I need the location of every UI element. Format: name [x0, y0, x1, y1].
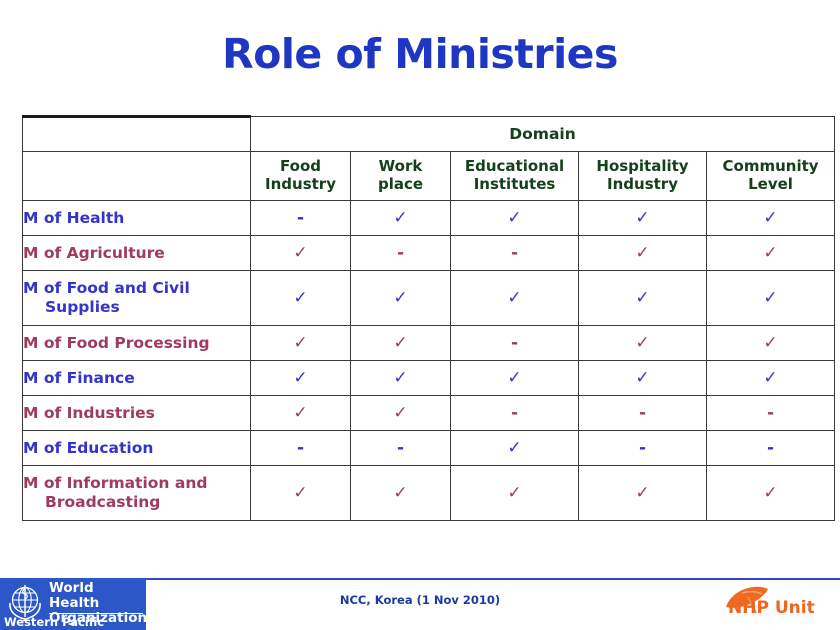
page-title: Role of Ministries: [0, 30, 840, 78]
table-row: M of Food and CivilSupplies✓✓✓✓✓: [23, 271, 835, 326]
cell-r7-c1: ✓: [351, 466, 451, 521]
row-label-3-line1: M of Food Processing: [23, 334, 210, 352]
cell-r0-c1: ✓: [351, 201, 451, 236]
mark-check-icon: ✓: [635, 288, 649, 308]
mark-check-icon: ✓: [393, 483, 407, 503]
mark-dash-icon: -: [511, 333, 518, 353]
cell-r6-c3: -: [579, 431, 707, 466]
row-label-5: M of Industries: [23, 396, 251, 431]
row-label-2-line1: M of Food and Civil: [23, 279, 190, 297]
row-label-2: M of Food and CivilSupplies: [23, 271, 251, 326]
cell-r7-c3: ✓: [579, 466, 707, 521]
column-header-2-line2: Institutes: [451, 176, 578, 194]
cell-r5-c2: -: [451, 396, 579, 431]
cell-r5-c1: ✓: [351, 396, 451, 431]
cell-r1-c2: -: [451, 236, 579, 271]
cell-r3-c4: ✓: [707, 326, 835, 361]
mark-check-icon: ✓: [635, 483, 649, 503]
row-label-3: M of Food Processing: [23, 326, 251, 361]
mark-check-icon: ✓: [763, 208, 777, 228]
mark-check-icon: ✓: [763, 288, 777, 308]
row-label-5-line1: M of Industries: [23, 404, 155, 422]
mark-dash-icon: -: [397, 243, 404, 263]
row-label-4-line1: M of Finance: [23, 369, 135, 387]
column-header-3-line1: Hospitality: [579, 158, 706, 176]
mark-dash-icon: -: [511, 243, 518, 263]
row-label-4: M of Finance: [23, 361, 251, 396]
cell-r3-c3: ✓: [579, 326, 707, 361]
mark-dash-icon: -: [639, 438, 646, 458]
mark-dash-icon: -: [297, 438, 304, 458]
column-header-3: HospitalityIndustry: [579, 152, 707, 201]
cell-r2-c0: ✓: [251, 271, 351, 326]
mark-dash-icon: -: [767, 403, 774, 423]
mark-check-icon: ✓: [763, 368, 777, 388]
row-label-7-line1: M of Information and: [23, 474, 207, 492]
cell-r3-c1: ✓: [351, 326, 451, 361]
row-label-0-line1: M of Health: [23, 209, 124, 227]
cell-r6-c4: -: [707, 431, 835, 466]
row-label-1: M of Agriculture: [23, 236, 251, 271]
mark-dash-icon: -: [767, 438, 774, 458]
mark-check-icon: ✓: [393, 208, 407, 228]
cell-r5-c3: -: [579, 396, 707, 431]
cell-r0-c0: -: [251, 201, 351, 236]
who-logo: World Health Organization Western Pacifi…: [0, 578, 146, 630]
mark-check-icon: ✓: [507, 438, 521, 458]
mark-check-icon: ✓: [293, 403, 307, 423]
domain-group-header: Domain: [251, 117, 835, 152]
mark-dash-icon: -: [511, 403, 518, 423]
column-header-1-line2: place: [351, 176, 450, 194]
who-name-line1: World Health: [49, 581, 146, 611]
column-header-4: CommunityLevel: [707, 152, 835, 201]
row-label-6: M of Education: [23, 431, 251, 466]
cell-r4-c4: ✓: [707, 361, 835, 396]
cell-r5-c0: ✓: [251, 396, 351, 431]
row-label-2-line2: Supplies: [23, 298, 250, 317]
cell-r3-c2: -: [451, 326, 579, 361]
cell-r2-c2: ✓: [451, 271, 579, 326]
mark-check-icon: ✓: [393, 288, 407, 308]
table-row: M of Industries✓✓---: [23, 396, 835, 431]
mark-check-icon: ✓: [507, 483, 521, 503]
cell-r3-c0: ✓: [251, 326, 351, 361]
mark-check-icon: ✓: [763, 483, 777, 503]
cell-r7-c0: ✓: [251, 466, 351, 521]
mark-check-icon: ✓: [393, 403, 407, 423]
cell-r6-c2: ✓: [451, 431, 579, 466]
column-header-4-line2: Level: [707, 176, 834, 194]
cell-r1-c4: ✓: [707, 236, 835, 271]
column-header-0-line1: Food: [251, 158, 350, 176]
row-label-1-line1: M of Agriculture: [23, 244, 165, 262]
table-row: M of Food Processing✓✓-✓✓: [23, 326, 835, 361]
mark-check-icon: ✓: [293, 288, 307, 308]
mark-check-icon: ✓: [635, 208, 649, 228]
column-header-0: FoodIndustry: [251, 152, 351, 201]
mark-check-icon: ✓: [507, 208, 521, 228]
table-header-row-columns: FoodIndustryWorkplaceEducationalInstitut…: [23, 152, 835, 201]
table-corner-blank-2: [23, 152, 251, 201]
cell-r1-c3: ✓: [579, 236, 707, 271]
who-region-label: Western Pacific Region: [4, 615, 146, 630]
mark-check-icon: ✓: [635, 368, 649, 388]
table-header-row-group: Domain: [23, 117, 835, 152]
cell-r7-c2: ✓: [451, 466, 579, 521]
footer-divider: [140, 578, 840, 580]
mark-dash-icon: -: [397, 438, 404, 458]
cell-r7-c4: ✓: [707, 466, 835, 521]
row-label-7-line2: Broadcasting: [23, 493, 250, 512]
cell-r2-c4: ✓: [707, 271, 835, 326]
cell-r4-c1: ✓: [351, 361, 451, 396]
column-header-2-line1: Educational: [451, 158, 578, 176]
cell-r4-c3: ✓: [579, 361, 707, 396]
column-header-3-line2: Industry: [579, 176, 706, 194]
cell-r1-c1: -: [351, 236, 451, 271]
cell-r4-c0: ✓: [251, 361, 351, 396]
cell-r0-c4: ✓: [707, 201, 835, 236]
table-row: M of Agriculture✓--✓✓: [23, 236, 835, 271]
row-label-7: M of Information andBroadcasting: [23, 466, 251, 521]
mark-check-icon: ✓: [507, 368, 521, 388]
table-row: M of Health-✓✓✓✓: [23, 201, 835, 236]
cell-r5-c4: -: [707, 396, 835, 431]
cell-r2-c3: ✓: [579, 271, 707, 326]
who-name-underline: [49, 613, 143, 614]
column-header-4-line1: Community: [707, 158, 834, 176]
table-row: M of Education--✓--: [23, 431, 835, 466]
mark-check-icon: ✓: [763, 243, 777, 263]
footer-center-text: NCC, Korea (1 Nov 2010): [270, 593, 570, 607]
mark-check-icon: ✓: [635, 333, 649, 353]
table-row: M of Information andBroadcasting✓✓✓✓✓: [23, 466, 835, 521]
cell-r6-c1: -: [351, 431, 451, 466]
table-row: M of Finance✓✓✓✓✓: [23, 361, 835, 396]
mark-check-icon: ✓: [635, 243, 649, 263]
mark-check-icon: ✓: [293, 483, 307, 503]
column-header-0-line2: Industry: [251, 176, 350, 194]
mark-dash-icon: -: [639, 403, 646, 423]
column-header-1-line1: Work: [351, 158, 450, 176]
table-corner-blank: [23, 117, 251, 152]
column-header-1: Workplace: [351, 152, 451, 201]
cell-r0-c3: ✓: [579, 201, 707, 236]
cell-r6-c0: -: [251, 431, 351, 466]
mark-check-icon: ✓: [293, 368, 307, 388]
role-of-ministries-table: DomainFoodIndustryWorkplaceEducationalIn…: [22, 115, 835, 521]
mark-check-icon: ✓: [393, 333, 407, 353]
mark-check-icon: ✓: [507, 288, 521, 308]
column-header-2: EducationalInstitutes: [451, 152, 579, 201]
mark-check-icon: ✓: [293, 243, 307, 263]
mark-check-icon: ✓: [293, 333, 307, 353]
mark-check-icon: ✓: [393, 368, 407, 388]
mark-dash-icon: -: [297, 208, 304, 228]
cell-r0-c2: ✓: [451, 201, 579, 236]
row-label-0: M of Health: [23, 201, 251, 236]
cell-r2-c1: ✓: [351, 271, 451, 326]
row-label-6-line1: M of Education: [23, 439, 153, 457]
cell-r4-c2: ✓: [451, 361, 579, 396]
mark-check-icon: ✓: [763, 333, 777, 353]
cell-r1-c0: ✓: [251, 236, 351, 271]
nhp-unit-label: NHP Unit: [728, 598, 815, 618]
